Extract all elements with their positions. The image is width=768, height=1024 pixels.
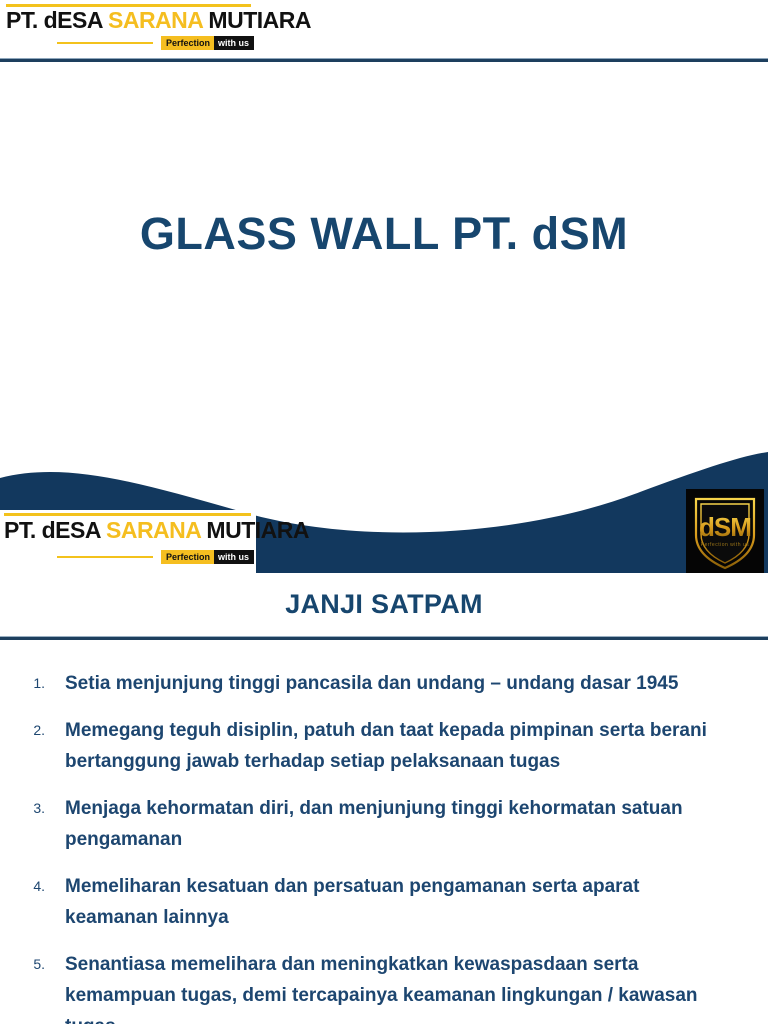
list-item: 2. Memegang teguh disiplin, patuh dan ta… — [0, 715, 768, 777]
list-item: 5. Senantiasa memelihara dan meningkatka… — [0, 949, 768, 1024]
dsm-shield-badge-icon: dSM Perfection with us — [686, 489, 764, 573]
header-divider — [0, 58, 768, 62]
logo-wordmark: PT. dESA SARANA MUTIARA — [6, 8, 311, 33]
list-item-text: Memeliharan kesatuan dan persatuan penga… — [65, 871, 768, 933]
slide-glass-wall: PT. dESA SARANA MUTIARA Perfectionwith u… — [0, 0, 768, 573]
logo-tagline-perfection-footer: Perfection — [161, 550, 214, 564]
logo-tagline-footer: Perfectionwith us — [4, 550, 254, 564]
svg-text:Perfection with us: Perfection with us — [701, 542, 749, 548]
list-item: 4. Memeliharan kesatuan dan persatuan pe… — [0, 871, 768, 933]
logo-top-rule-footer — [4, 513, 251, 516]
logo-wordmark-part2: MUTIARA — [203, 7, 311, 33]
list-item-number: 2. — [0, 715, 65, 746]
logo-wordmark-part1-footer: PT. dESA — [4, 517, 106, 543]
logo-tagline: Perfectionwith us — [6, 36, 254, 50]
logo-tagline-with-us-footer: with us — [214, 550, 254, 564]
list-item-text: Memegang teguh disiplin, patuh dan taat … — [65, 715, 768, 777]
section-divider — [0, 636, 768, 640]
list-item-text: Menjaga kehormatan diri, dan menjunjung … — [65, 793, 768, 855]
list-item: 1. Setia menjunjung tinggi pancasila dan… — [0, 668, 768, 699]
promise-list: 1. Setia menjunjung tinggi pancasila dan… — [0, 668, 768, 1024]
logo-wordmark-part2-footer: MUTIARA — [201, 517, 309, 543]
slide-janji-satpam: JANJI SATPAM 1. Setia menjunjung tinggi … — [0, 573, 768, 1024]
list-item-number: 1. — [0, 668, 65, 699]
logo-tagline-rule-footer — [57, 556, 153, 558]
section-title: JANJI SATPAM — [0, 589, 768, 620]
logo-wordmark-sarana-footer: SARANA — [106, 517, 201, 543]
logo-wordmark-sarana: SARANA — [108, 7, 203, 33]
list-item-text: Setia menjunjung tinggi pancasila dan un… — [65, 668, 768, 699]
page-title: GLASS WALL PT. dSM — [0, 208, 768, 260]
logo-tagline-rule — [57, 42, 153, 44]
logo-tagline-perfection: Perfection — [161, 36, 214, 50]
logo-tagline-with-us: with us — [214, 36, 254, 50]
list-item-text: Senantiasa memelihara dan meningkatkan k… — [65, 949, 768, 1024]
company-logo-footer: PT. dESA SARANA MUTIARA Perfectionwith u… — [0, 510, 256, 573]
list-item-number: 5. — [0, 949, 65, 980]
logo-wordmark-part1: PT. dESA — [6, 7, 108, 33]
logo-wordmark-footer: PT. dESA SARANA MUTIARA — [4, 518, 309, 543]
list-item-number: 3. — [0, 793, 65, 824]
company-logo-header: PT. dESA SARANA MUTIARA Perfectionwith u… — [0, 0, 257, 55]
list-item: 3. Menjaga kehormatan diri, dan menjunju… — [0, 793, 768, 855]
svg-text:dSM: dSM — [699, 512, 751, 542]
list-item-number: 4. — [0, 871, 65, 902]
